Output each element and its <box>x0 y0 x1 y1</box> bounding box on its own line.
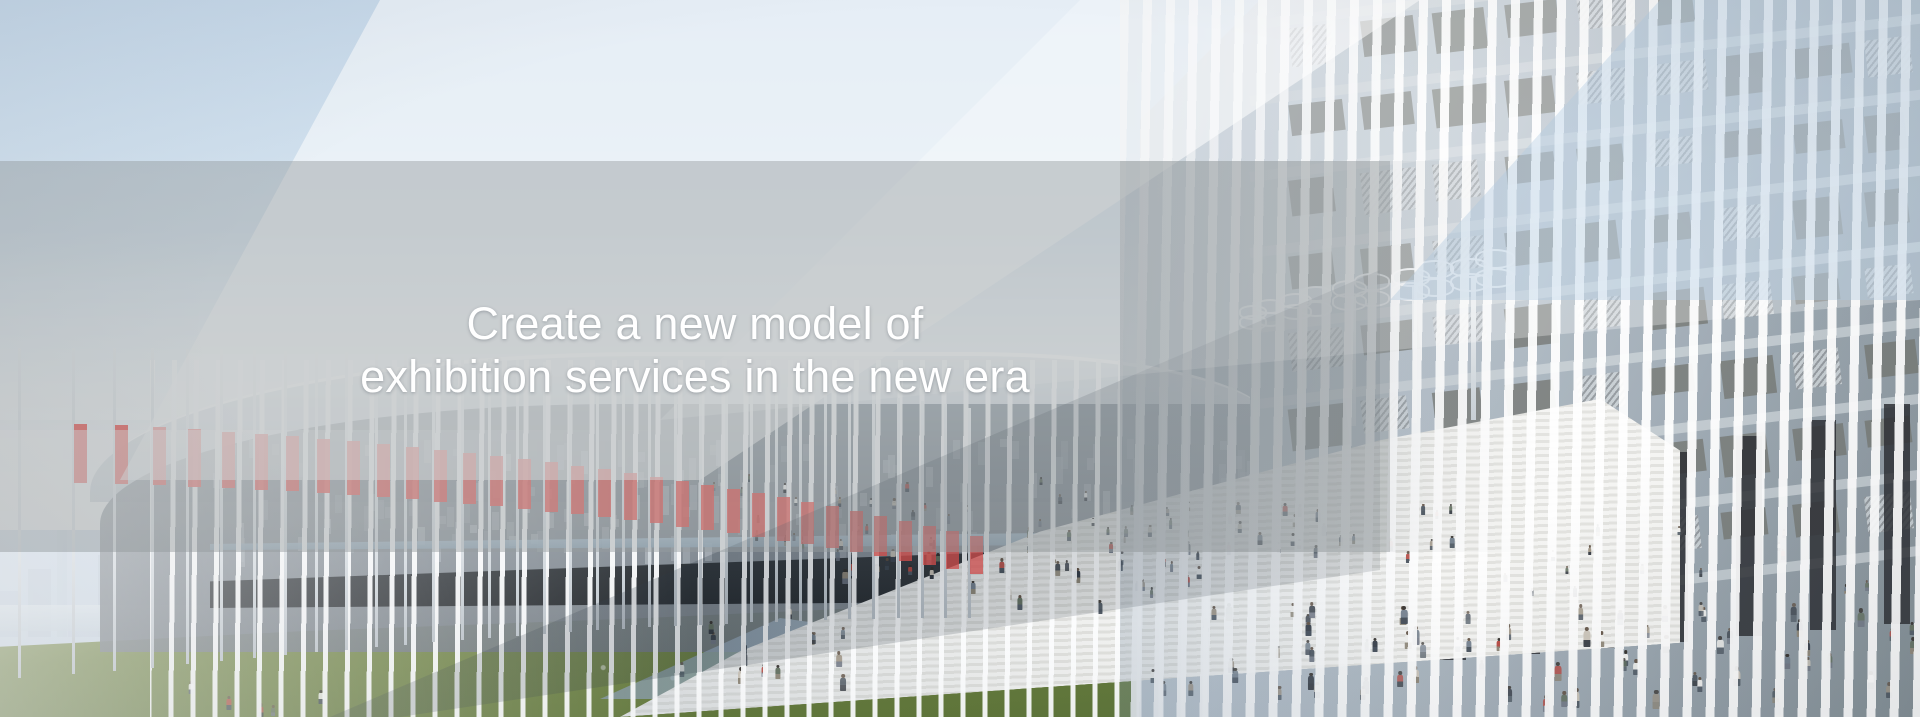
banner-headline: Create a new model of exhibition service… <box>0 298 1390 403</box>
hero-banner: Create a new model of exhibition service… <box>0 0 1920 717</box>
